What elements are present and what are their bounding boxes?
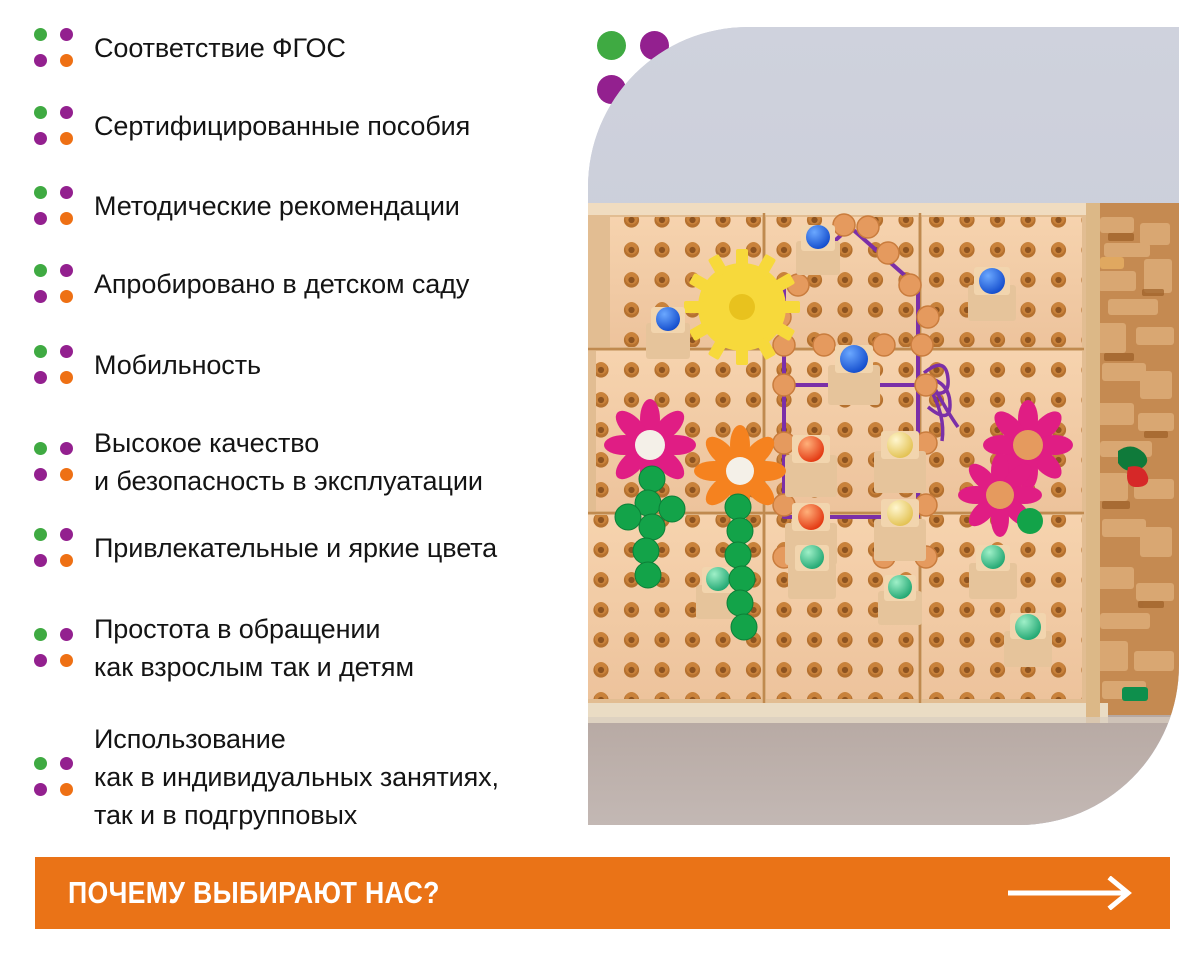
feature-label: Сертифицированные пособия xyxy=(94,107,470,145)
bullet-dot-green-icon xyxy=(34,264,47,277)
bullet-dot-grid-icon xyxy=(34,528,80,568)
bullet-dot-purple-icon xyxy=(34,554,47,567)
bullet-dot-orange-icon xyxy=(60,371,73,384)
bullet-dot-orange-icon xyxy=(60,54,73,67)
green-peg xyxy=(1017,508,1043,534)
bullet-dot-grid-icon xyxy=(34,264,80,304)
bullet-dot-green-icon xyxy=(34,528,47,541)
product-photo xyxy=(588,27,1179,825)
feature-label: Использование как в индивидуальных занят… xyxy=(94,720,499,834)
feature-label: Простота в обращении как взрослым так и … xyxy=(94,610,414,686)
bullet-dot-purple-icon xyxy=(34,290,47,303)
bullet-dot-purple-icon xyxy=(60,528,73,541)
bullet-dot-green-icon xyxy=(34,28,47,41)
bullet-dot-purple-icon xyxy=(60,28,73,41)
bullet-dot-green-icon xyxy=(34,186,47,199)
bullet-dot-purple-icon xyxy=(34,54,47,67)
bullet-dot-purple-icon xyxy=(34,468,47,481)
why-choose-us-banner[interactable]: ПОЧЕМУ ВЫБИРАЮТ НАС? xyxy=(35,857,1170,929)
bullet-dot-purple-icon xyxy=(60,757,73,770)
cta-label: ПОЧЕМУ ВЫБИРАЮТ НАС? xyxy=(68,875,440,911)
bullet-dot-grid-icon xyxy=(34,442,80,482)
bullet-dot-green-icon xyxy=(34,628,47,641)
bullet-dot-orange-icon xyxy=(60,554,73,567)
bullet-dot-purple-icon xyxy=(60,106,73,119)
bullet-dot-grid-icon xyxy=(34,345,80,385)
bullet-dot-purple-icon xyxy=(34,132,47,145)
bullet-dot-purple-icon xyxy=(60,264,73,277)
bullet-dot-purple-icon xyxy=(60,442,73,455)
feature-label: Высокое качество и безопасность в эксплу… xyxy=(94,424,483,500)
bullet-dot-orange-icon xyxy=(60,654,73,667)
feature-item-colors: Привлекательные и яркие цвета xyxy=(34,528,497,568)
bullet-dot-grid-icon xyxy=(34,628,80,668)
product-photo-illustration xyxy=(588,27,1179,825)
feature-item-usage: Использование как в индивидуальных занят… xyxy=(34,720,499,834)
feature-label: Привлекательные и яркие цвета xyxy=(94,529,497,567)
bullet-dot-orange-icon xyxy=(60,212,73,225)
bullet-dot-green-icon xyxy=(34,106,47,119)
feature-label: Мобильность xyxy=(94,346,261,384)
bullet-dot-purple-icon xyxy=(60,345,73,358)
decor-dot-green-icon xyxy=(597,31,626,60)
bullet-dot-orange-icon xyxy=(60,468,73,481)
arrow-right-icon[interactable] xyxy=(1008,876,1136,910)
bullet-dot-green-icon xyxy=(34,442,47,455)
parts-bin xyxy=(1093,203,1179,715)
bullet-dot-grid-icon xyxy=(34,757,80,797)
feature-label: Соответствие ФГОС xyxy=(94,29,346,67)
feature-item-certified: Сертифицированные пособия xyxy=(34,106,470,146)
feature-item-simplicity: Простота в обращении как взрослым так и … xyxy=(34,610,414,686)
bullet-dot-purple-icon xyxy=(60,186,73,199)
bullet-dot-grid-icon xyxy=(34,106,80,146)
bullet-dot-grid-icon xyxy=(34,28,80,68)
bullet-dot-purple-icon xyxy=(60,628,73,641)
bullet-dot-purple-icon xyxy=(34,212,47,225)
bullet-dot-orange-icon xyxy=(60,783,73,796)
bullet-dot-purple-icon xyxy=(34,371,47,384)
bullet-dot-purple-icon xyxy=(34,783,47,796)
feature-item-methodical: Методические рекомендации xyxy=(34,186,460,226)
feature-list: Соответствие ФГОС Сертифицированные посо… xyxy=(0,0,580,845)
feature-item-quality: Высокое качество и безопасность в эксплу… xyxy=(34,424,483,500)
bullet-dot-green-icon xyxy=(34,757,47,770)
feature-item-fgos: Соответствие ФГОС xyxy=(34,28,346,68)
bullet-dot-orange-icon xyxy=(60,290,73,303)
feature-label: Апробировано в детском саду xyxy=(94,265,469,303)
feature-label: Методические рекомендации xyxy=(94,187,460,225)
bullet-dot-purple-icon xyxy=(34,654,47,667)
bullet-dot-grid-icon xyxy=(34,186,80,226)
feature-item-mobility: Мобильность xyxy=(34,345,261,385)
bullet-dot-green-icon xyxy=(34,345,47,358)
bullet-dot-orange-icon xyxy=(60,132,73,145)
slide-root: Соответствие ФГОС Сертифицированные посо… xyxy=(0,0,1201,961)
feature-item-tested: Апробировано в детском саду xyxy=(34,264,469,304)
